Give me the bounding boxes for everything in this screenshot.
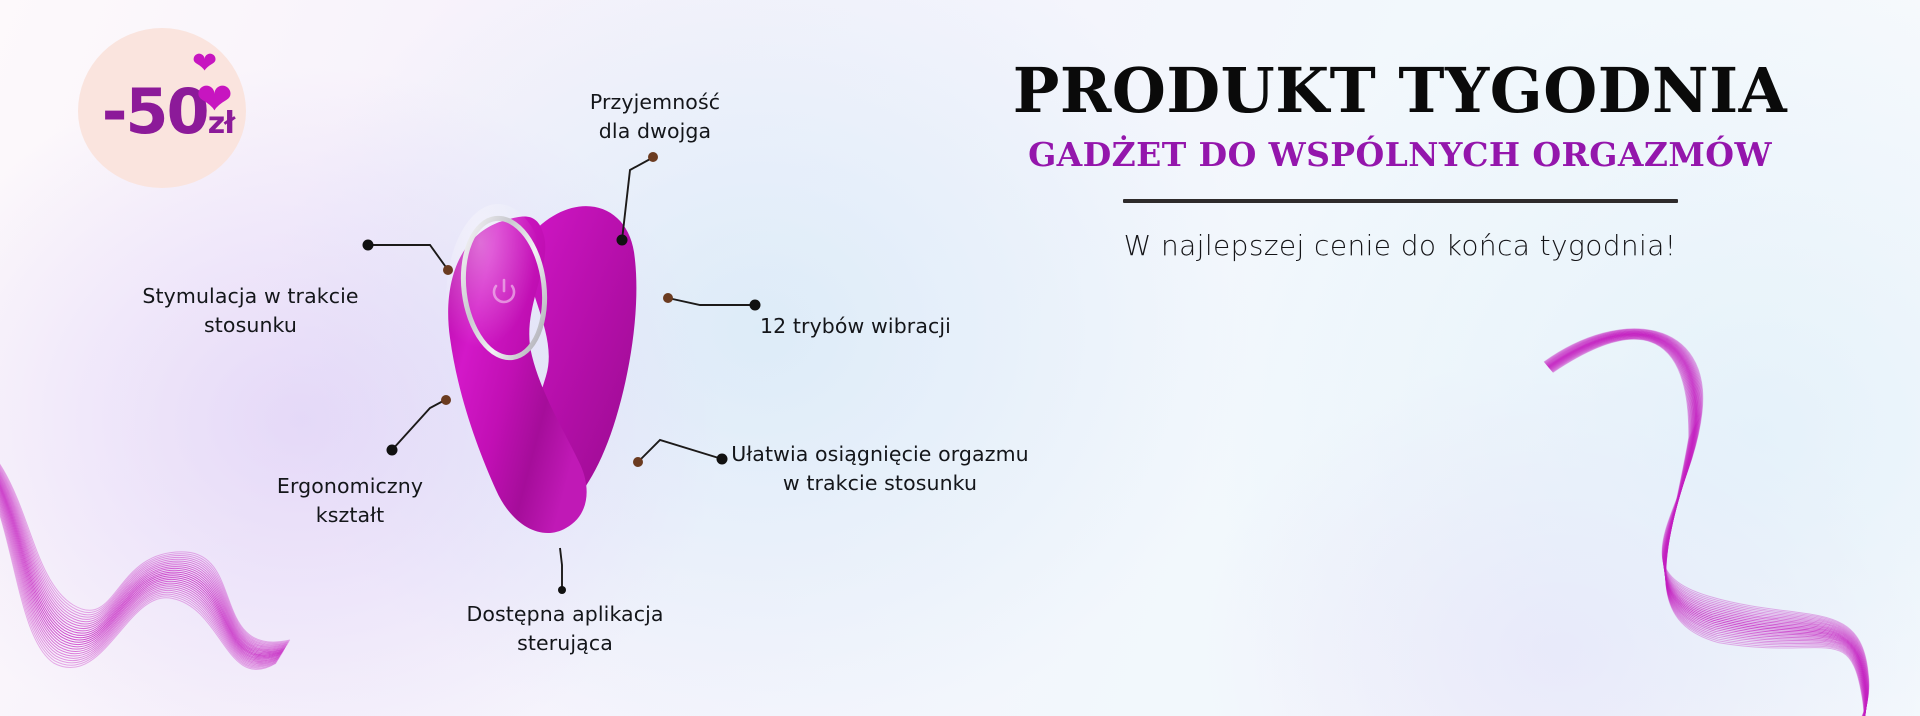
heart-icon-large: ❤ xyxy=(196,74,233,125)
product-image xyxy=(420,160,720,580)
promo-text-block: PRODUKT TYGODNIA GADŻET DO WSPÓLNYCH ORG… xyxy=(1000,58,1800,262)
promo-subheadline: GADŻET DO WSPÓLNYCH ORGAZMÓW xyxy=(1000,137,1800,173)
feature-label-aplikacja: Dostępna aplikacja sterująca xyxy=(455,600,675,658)
feature-label-tryby: 12 trybów wibracji xyxy=(760,312,990,341)
wave-lines-decoration-left xyxy=(0,400,330,716)
feature-label-stymulacja: Stymulacja w trakcie stosunku xyxy=(128,282,373,340)
feature-label-ulatwia: Ułatwia osiągnięcie orgazmu w trakcie st… xyxy=(730,440,1030,498)
promo-divider xyxy=(1123,199,1678,203)
connector-dot-black-tryby xyxy=(750,300,761,311)
promo-banner: -50zł ❤ ❤ xyxy=(0,0,1920,716)
connector-dot-black-ergonomiczny xyxy=(387,445,398,456)
wave-lines-decoration-right xyxy=(1530,300,1920,716)
feature-label-ergonomiczny: Ergonomiczny kształt xyxy=(250,472,450,530)
connector-dot-black-stymulacja xyxy=(363,240,374,251)
discount-value: -50 xyxy=(102,75,208,148)
promo-headline: PRODUKT TYGODNIA xyxy=(1000,58,1800,123)
connector-dot-black-aplikacja xyxy=(558,586,566,594)
promo-tagline: W najlepszej cenie do końca tygodnia! xyxy=(1000,229,1800,262)
feature-label-przyjemnosc: Przyjemność dla dwojga xyxy=(540,88,770,146)
